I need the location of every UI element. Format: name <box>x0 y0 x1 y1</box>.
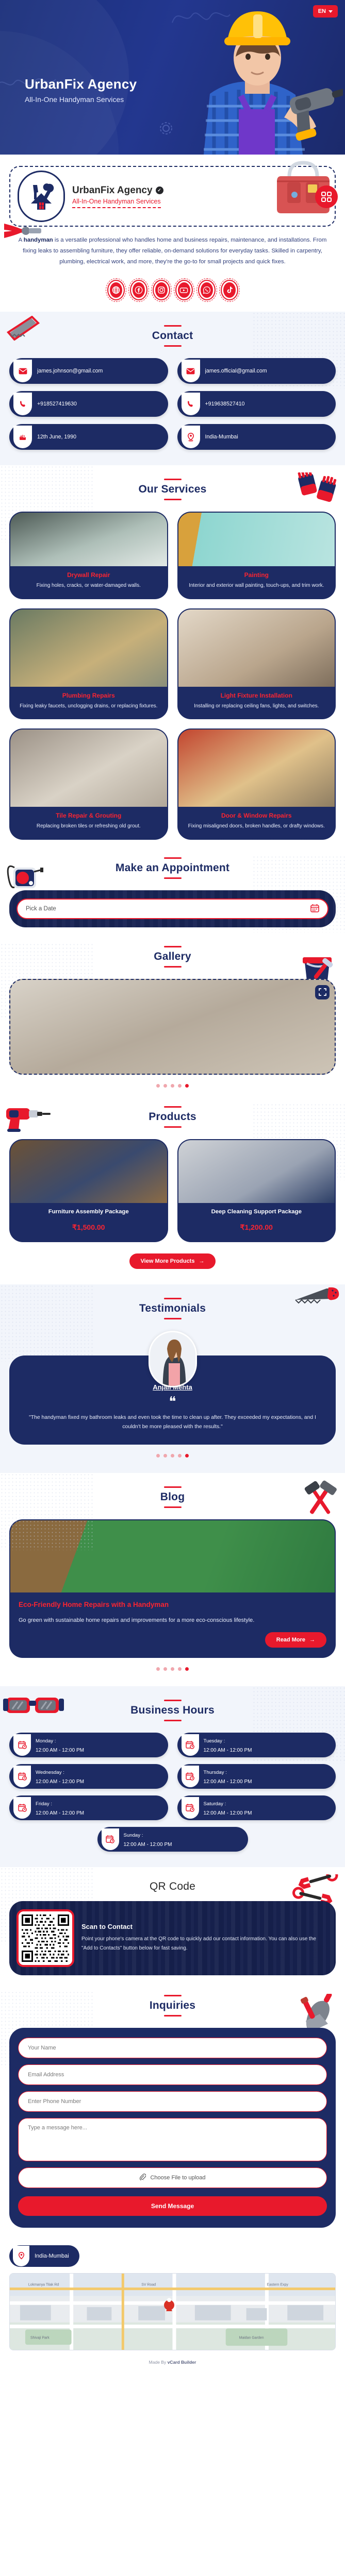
hero-banner: EN <box>0 0 345 155</box>
paperclip-icon <box>139 2174 146 2182</box>
hours-day: Tuesday : <box>204 1738 225 1744</box>
send-message-button[interactable]: Send Message <box>18 2196 327 2216</box>
hours-text: Friday :12:00 AM - 12:00 PM <box>36 1799 84 1817</box>
section-title-inquiries: Inquiries <box>9 1999 336 2012</box>
hours-row-thursday: Thursday :12:00 AM - 12:00 PM <box>177 1764 336 1789</box>
appointment-section: Make an Appointment Pick a Date <box>0 855 345 943</box>
svg-text:Shivaji Park: Shivaji Park <box>30 2336 50 2340</box>
qr-heading: Scan to Contact <box>81 1923 328 1930</box>
hours-text: Thursday :12:00 AM - 12:00 PM <box>204 1767 252 1786</box>
vcard-page: EN <box>0 0 345 2372</box>
dash-ring <box>151 278 172 302</box>
qr-section: QR Code <box>0 1867 345 1991</box>
calendar-clock-icon <box>13 1766 31 1787</box>
products-title-block: Products <box>9 1106 336 1128</box>
section-title-business-hours: Business Hours <box>9 1704 336 1717</box>
hours-day: Saturday : <box>204 1801 226 1807</box>
hours-time: 12:00 AM - 12:00 PM <box>36 1779 84 1785</box>
products-section: Products Furniture Assembly Package ₹1,5… <box>0 1103 345 1284</box>
svg-text:SV Road: SV Road <box>141 2283 156 2286</box>
message-placeholder: Type a message here... <box>28 2125 87 2131</box>
gear-icon <box>157 120 175 137</box>
dot-pattern <box>0 1473 93 1550</box>
dash-ring <box>219 278 240 302</box>
service-desc: Fixing holes, cracks, or water-damaged w… <box>15 582 162 590</box>
page-title: UrbanFix Agency <box>25 76 137 92</box>
contact-item-email-2[interactable]: james.official@gmail.com <box>177 358 336 384</box>
hours-time: 12:00 AM - 12:00 PM <box>36 1810 84 1816</box>
tiktok-icon[interactable] <box>221 280 238 300</box>
hours-time: 12:00 AM - 12:00 PM <box>204 1779 252 1785</box>
hours-row-sunday: Sunday :12:00 AM - 12:00 PM <box>97 1827 248 1852</box>
testimonials-carousel-dots[interactable] <box>9 1454 336 1458</box>
arrow-right-icon: → <box>309 1637 315 1643</box>
company-logo <box>18 171 65 222</box>
gallery-carousel-dots[interactable] <box>9 1084 336 1088</box>
date-placeholder: Pick a Date <box>26 906 56 912</box>
service-card[interactable]: Light Fixture Installation Installing or… <box>177 608 336 720</box>
service-body: Light Fixture Installation Installing or… <box>178 687 335 719</box>
product-card[interactable]: Furniture Assembly Package ₹1,500.00 <box>9 1139 168 1242</box>
section-title-appointment: Make an Appointment <box>9 862 336 874</box>
calendar-clock-icon <box>182 1766 199 1787</box>
product-body: Furniture Assembly Package ₹1,500.00 <box>10 1203 167 1241</box>
title-accent-bottom <box>164 1720 182 1721</box>
hours-title-block: Business Hours <box>9 1700 336 1721</box>
service-card[interactable]: Painting Interior and exterior wall pain… <box>177 512 336 599</box>
service-desc: Interior and exterior wall painting, tou… <box>184 582 330 590</box>
contact-value: India-Mumbai <box>205 433 238 440</box>
service-image <box>178 730 335 807</box>
svg-text:Lokmanya Tilak Rd: Lokmanya Tilak Rd <box>28 2283 59 2286</box>
contact-value: james.johnson@gmail.com <box>37 367 103 375</box>
blog-title-block: Blog <box>9 1486 336 1508</box>
appointment-title-block: Make an Appointment <box>9 857 336 879</box>
birthday-cake-icon <box>13 426 32 448</box>
hours-day: Wednesday : <box>36 1770 64 1775</box>
carousel-dot[interactable] <box>163 1454 167 1458</box>
title-accent-top <box>164 479 182 480</box>
hours-row-monday: Monday :12:00 AM - 12:00 PM <box>9 1733 168 1757</box>
facebook-icon[interactable] <box>130 280 147 300</box>
service-name: Painting <box>184 571 330 579</box>
view-more-label: View More Products <box>141 1258 195 1264</box>
pliers-icon <box>3 221 43 241</box>
service-card[interactable]: Tile Repair & Grouting Replacing broken … <box>9 728 168 840</box>
hours-time: 12:00 AM - 12:00 PM <box>204 1810 252 1816</box>
products-grid: Furniture Assembly Package ₹1,500.00 Dee… <box>9 1139 336 1242</box>
grid-menu-button[interactable] <box>315 185 338 208</box>
hours-day: Friday : <box>36 1801 52 1807</box>
testimonials-title-block: Testimonials <box>9 1298 336 1319</box>
qr-description: Point your phone's camera at the QR code… <box>81 1935 328 1953</box>
hours-grid: Monday :12:00 AM - 12:00 PM Tuesday :12:… <box>9 1733 336 1820</box>
service-card[interactable]: Plumbing Repairs Fixing leaky faucets, u… <box>9 608 168 720</box>
calendar-clock-icon <box>182 1797 199 1819</box>
contact-item-phone-2[interactable]: +919638527410 <box>177 391 336 417</box>
carousel-dot-active[interactable] <box>185 1454 189 1458</box>
carousel-dot[interactable] <box>171 1667 174 1671</box>
grid-icon <box>321 192 332 202</box>
carousel-dot-active[interactable] <box>185 1667 189 1671</box>
blog-carousel-dots[interactable] <box>9 1667 336 1671</box>
carousel-dot[interactable] <box>171 1454 174 1458</box>
hours-text: Sunday :12:00 AM - 12:00 PM <box>124 1830 172 1849</box>
business-name-row: UrbanFix Agency ✓ <box>72 185 163 196</box>
about-section: A handyman is a versatile professional w… <box>0 230 345 270</box>
map-location-label: India-Mumbai <box>35 2253 69 2259</box>
title-accent-bottom <box>164 1126 182 1128</box>
product-image <box>178 1140 335 1203</box>
business-hours-section: Business Hours Monday :12:00 AM - 12:00 … <box>0 1686 345 1867</box>
profile-section: UrbanFix Agency ✓ All-In-One Handyman Se… <box>0 155 345 230</box>
section-title-products: Products <box>9 1111 336 1123</box>
hours-text: Saturday :12:00 AM - 12:00 PM <box>204 1799 252 1817</box>
service-body: Door & Window Repairs Fixing misaligned … <box>178 807 335 839</box>
services-grid: Drywall Repair Fixing holes, cracks, or … <box>9 512 336 840</box>
svg-text:Maidan Garden: Maidan Garden <box>239 2336 264 2340</box>
service-name: Light Fixture Installation <box>184 692 330 699</box>
service-image <box>178 609 335 687</box>
inquiries-title-block: Inquiries <box>9 1995 336 2016</box>
phone-placeholder: Enter Phone Number <box>28 2098 81 2105</box>
contact-value: 12th June, 1990 <box>37 433 76 440</box>
inquiry-form: Your Name Email Address Enter Phone Numb… <box>9 2028 336 2228</box>
language-label: EN <box>318 8 326 14</box>
business-tagline: All-In-One Handyman Services <box>72 198 161 208</box>
product-image <box>10 1140 167 1203</box>
avatar <box>149 1331 197 1387</box>
service-image <box>10 609 167 687</box>
email-icon <box>13 360 32 382</box>
title-accent-top <box>164 1298 182 1299</box>
title-accent-top <box>164 946 182 947</box>
calendar-clock-icon <box>13 1797 31 1819</box>
social-links <box>0 270 345 312</box>
arrow-right-icon: → <box>199 1258 204 1264</box>
hours-time: 12:00 AM - 12:00 PM <box>36 1748 84 1753</box>
hammer-wrench-house-icon <box>26 182 57 211</box>
hours-text: Monday :12:00 AM - 12:00 PM <box>36 1736 84 1754</box>
hours-row-saturday: Saturday :12:00 AM - 12:00 PM <box>177 1795 336 1820</box>
page-subtitle: All-In-One Handyman Services <box>25 95 137 104</box>
blog-post-excerpt: Go green with sustainable home repairs a… <box>19 1616 326 1625</box>
service-image <box>10 513 167 566</box>
title-accent-top <box>164 1995 182 1996</box>
blog-section: Blog Eco-Friendly Home Repairs with a Ha… <box>0 1473 345 1686</box>
blog-post-title: Eco-Friendly Home Repairs with a Handyma… <box>19 1601 326 1608</box>
map-image: Lokmanya Tilak RdSV RoadEastern Expy Shi… <box>10 2274 335 2350</box>
dash-ring <box>128 278 149 302</box>
title-accent-top <box>164 857 182 859</box>
blog-body: Eco-Friendly Home Repairs with a Handyma… <box>10 1592 335 1656</box>
gallery-title-block: Gallery <box>9 946 336 968</box>
contact-item-phone-1[interactable]: +918527419630 <box>9 391 168 417</box>
qr-glyph <box>22 1914 69 1962</box>
contact-item-email-1[interactable]: james.johnson@gmail.com <box>9 358 168 384</box>
whatsapp-icon[interactable] <box>198 280 216 300</box>
service-name: Drywall Repair <box>15 571 162 579</box>
title-accent-bottom <box>164 1506 182 1508</box>
dash-ring <box>196 278 217 302</box>
section-title-blog: Blog <box>9 1491 336 1503</box>
chevron-down-icon <box>328 10 333 13</box>
service-desc: Replacing broken tiles or refreshing old… <box>15 822 162 831</box>
hours-sunday-row: Sunday :12:00 AM - 12:00 PM <box>9 1827 336 1852</box>
about-paragraph: A handyman is a versatile professional w… <box>18 235 327 267</box>
email-field[interactable]: Email Address <box>18 2064 327 2085</box>
service-body: Tile Repair & Grouting Replacing broken … <box>10 807 167 839</box>
hours-row-wednesday: Wednesday :12:00 AM - 12:00 PM <box>9 1764 168 1789</box>
dash-ring <box>174 278 194 302</box>
contact-item-location[interactable]: India-Mumbai <box>177 424 336 450</box>
contact-value: james.official@gmail.com <box>205 367 267 375</box>
hero-worker-image <box>173 3 343 155</box>
section-title-gallery: Gallery <box>9 951 336 963</box>
location-pin-icon <box>182 426 200 448</box>
carousel-dot[interactable] <box>178 1084 182 1088</box>
title-accent-top <box>164 1486 182 1488</box>
business-name: UrbanFix Agency <box>72 185 153 196</box>
about-text: is a versatile professional who handles … <box>23 237 326 265</box>
service-desc: Fixing misaligned doors, broken handles,… <box>184 822 330 831</box>
title-accent-bottom <box>164 966 182 968</box>
services-section: Our Services Drywall Repair Fixing holes… <box>0 465 345 855</box>
hours-day: Thursday : <box>204 1770 227 1775</box>
carousel-dot[interactable] <box>163 1667 167 1671</box>
language-selector[interactable]: EN <box>313 5 338 18</box>
hero-text-block: UrbanFix Agency All-In-One Handyman Serv… <box>25 76 137 104</box>
service-desc: Fixing leaky faucets, unclogging drains,… <box>15 702 162 710</box>
service-image <box>10 730 167 807</box>
carousel-dot[interactable] <box>156 1454 160 1458</box>
verified-badge-icon: ✓ <box>156 187 163 194</box>
appointment-card: Pick a Date <box>9 890 336 927</box>
contact-value: +918527419630 <box>37 400 77 408</box>
service-image <box>178 513 335 566</box>
section-title-qr: QR Code <box>9 1880 336 1893</box>
expand-button[interactable] <box>315 985 330 999</box>
map-embed[interactable]: Lokmanya Tilak RdSV RoadEastern Expy Shi… <box>9 2273 336 2350</box>
calendar-icon[interactable] <box>310 904 319 914</box>
message-field[interactable]: Type a message here... <box>18 2118 327 2161</box>
title-accent-top <box>164 325 182 327</box>
avatar-image <box>150 1332 197 1387</box>
instagram-icon[interactable] <box>153 280 170 300</box>
read-more-label: Read More <box>276 1637 305 1643</box>
email-icon <box>182 360 200 382</box>
email-placeholder: Email Address <box>28 2072 64 2078</box>
product-name: Deep Cleaning Support Package <box>183 1208 331 1216</box>
name-placeholder: Your Name <box>28 2045 56 2051</box>
service-name: Plumbing Repairs <box>15 692 162 699</box>
title-accent-bottom <box>164 2015 182 2016</box>
name-field[interactable]: Your Name <box>18 2038 327 2058</box>
hours-day: Monday : <box>36 1738 56 1744</box>
service-name: Tile Repair & Grouting <box>15 812 162 819</box>
quote-mark-icon: ❝ <box>21 1396 324 1407</box>
dash-ring <box>106 278 126 302</box>
carousel-dot[interactable] <box>156 1667 160 1671</box>
hours-row-friday: Friday :12:00 AM - 12:00 PM <box>9 1795 168 1820</box>
carousel-dot[interactable] <box>178 1667 182 1671</box>
title-accent-bottom <box>164 499 182 500</box>
carousel-dot-active[interactable] <box>185 1084 189 1088</box>
testimonial-block: Anjali Mehta ❝ "The handyman fixed my ba… <box>9 1331 336 1445</box>
product-name: Furniture Assembly Package <box>14 1208 163 1216</box>
contact-title-block: Contact <box>9 325 336 347</box>
file-upload-field[interactable]: Choose File to upload <box>18 2167 327 2188</box>
title-accent-bottom <box>164 1318 182 1319</box>
inquiries-section: Inquiries Your Name Email Address Enter … <box>0 1991 345 2243</box>
contact-item-birthday[interactable]: 12th June, 1990 <box>9 424 168 450</box>
hours-row-tuesday: Tuesday :12:00 AM - 12:00 PM <box>177 1733 336 1757</box>
phone-icon <box>182 393 200 415</box>
calendar-clock-icon <box>13 1734 31 1756</box>
title-accent-top <box>164 1106 182 1108</box>
profile-text: UrbanFix Agency ✓ All-In-One Handyman Se… <box>72 185 163 208</box>
hours-text: Wednesday :12:00 AM - 12:00 PM <box>36 1767 84 1786</box>
contact-section: Contact james.johnson@gmail.com james.of… <box>0 312 345 465</box>
qr-card: Scan to Contact Point your phone's camer… <box>9 1901 336 1975</box>
expand-icon <box>319 988 326 996</box>
section-title-testimonials: Testimonials <box>9 1302 336 1315</box>
footer: Made By vCard Builder <box>0 2353 345 2372</box>
calendar-clock-icon <box>182 1734 199 1756</box>
hours-day: Sunday : <box>124 1833 143 1838</box>
service-card[interactable]: Door & Window Repairs Fixing misaligned … <box>177 728 336 840</box>
calendar-clock-icon <box>102 1828 119 1850</box>
services-title-block: Our Services <box>9 479 336 500</box>
testimonial-quote: "The handyman fixed my bathroom leaks an… <box>21 1413 324 1431</box>
title-accent-bottom <box>164 877 182 879</box>
service-body: Drywall Repair Fixing holes, cracks, or … <box>10 566 167 598</box>
service-card[interactable]: Drywall Repair Fixing holes, cracks, or … <box>9 512 168 599</box>
title-accent-top <box>164 1700 182 1701</box>
carousel-dot[interactable] <box>171 1084 174 1088</box>
section-title-services: Our Services <box>9 483 336 496</box>
service-desc: Installing or replacing ceiling fans, li… <box>184 702 330 710</box>
testimonials-section: Testimonials Anjali Mehta ❝ "The handyma… <box>0 1284 345 1473</box>
website-icon[interactable] <box>107 280 125 300</box>
products-actions: View More Products → <box>9 1253 336 1269</box>
title-accent-bottom <box>164 345 182 347</box>
product-price: ₹1,200.00 <box>183 1223 331 1232</box>
qr-code-image[interactable] <box>17 1909 74 1967</box>
file-label: Choose File to upload <box>150 2175 205 2181</box>
contact-list: james.johnson@gmail.com james.official@g… <box>9 358 336 450</box>
contact-value: +919638527410 <box>205 400 245 408</box>
qr-text-block: Scan to Contact Point your phone's camer… <box>81 1923 328 1953</box>
section-title-contact: Contact <box>9 330 336 342</box>
product-price: ₹1,500.00 <box>14 1223 163 1232</box>
phone-field[interactable]: Enter Phone Number <box>18 2091 327 2112</box>
qr-title-block: QR Code <box>9 1880 336 1893</box>
blog-actions: Read More → <box>19 1632 326 1648</box>
footer-brand: vCard Builder <box>168 2360 196 2365</box>
youtube-icon[interactable] <box>175 280 193 300</box>
read-more-button[interactable]: Read More → <box>265 1632 326 1648</box>
product-body: Deep Cleaning Support Package ₹1,200.00 <box>178 1203 335 1241</box>
svg-text:Eastern Expy: Eastern Expy <box>267 2283 288 2286</box>
gallery-slide[interactable] <box>9 979 336 1075</box>
date-picker[interactable]: Pick a Date <box>17 899 328 919</box>
view-more-products-button[interactable]: View More Products → <box>129 1253 216 1269</box>
map-location-pill: India-Mumbai <box>9 2245 79 2267</box>
phone-icon <box>13 393 32 415</box>
location-pin-icon <box>13 2246 29 2266</box>
carousel-dot[interactable] <box>156 1084 160 1088</box>
carousel-dot[interactable] <box>163 1084 167 1088</box>
carousel-dot[interactable] <box>178 1454 182 1458</box>
hours-time: 12:00 AM - 12:00 PM <box>204 1748 252 1753</box>
service-name: Door & Window Repairs <box>184 812 330 819</box>
service-body: Plumbing Repairs Fixing leaky faucets, u… <box>10 687 167 719</box>
gallery-section: Gallery <box>0 943 345 1103</box>
map-section: India-Mumbai <box>0 2243 345 2353</box>
service-body: Painting Interior and exterior wall pain… <box>178 566 335 598</box>
footer-prefix: Made By <box>149 2360 168 2365</box>
product-card[interactable]: Deep Cleaning Support Package ₹1,200.00 <box>177 1139 336 1242</box>
hours-time: 12:00 AM - 12:00 PM <box>124 1842 172 1848</box>
hours-text: Tuesday :12:00 AM - 12:00 PM <box>204 1736 252 1754</box>
